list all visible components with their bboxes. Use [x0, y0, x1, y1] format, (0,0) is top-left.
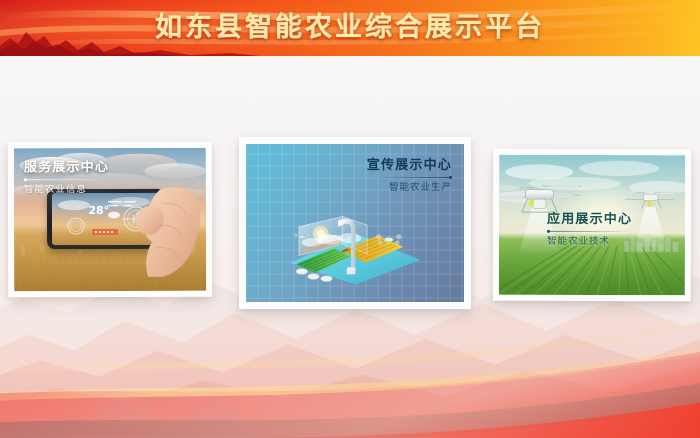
card-application-title: 应用展示中心: [547, 212, 632, 228]
platform-showcase-page: 如东县智能农业综合展示平台: [0, 0, 700, 438]
card-service-image: 28°: [14, 148, 206, 292]
ar-temperature-readout: 28°: [88, 204, 109, 217]
card-promotion-title: 宣传展示中心: [367, 158, 452, 174]
card-promotion-image: 宣传展示中心 智能农业生产: [246, 144, 464, 302]
card-application-image: 应用展示中心 智能农业技术: [499, 155, 685, 295]
card-service-title: 服务展示中心: [24, 160, 109, 176]
card-service-caption: 服务展示中心 智能农业信息: [24, 160, 109, 196]
card-application-caption: 应用展示中心 智能农业技术: [547, 212, 632, 248]
card-service-subtitle: 智能农业信息: [24, 183, 109, 196]
card-application-divider: [547, 231, 632, 232]
card-promotion-caption: 宣传展示中心 智能农业生产: [367, 158, 452, 194]
card-promotion-divider: [367, 177, 452, 178]
isometric-farm-scene: [261, 215, 448, 285]
card-application-display-center[interactable]: 应用展示中心 智能农业技术: [493, 149, 691, 302]
card-service-display-center[interactable]: 28°: [8, 142, 212, 298]
card-promotion-display-center[interactable]: 宣传展示中心 智能农业生产: [239, 137, 471, 309]
page-title: 如东县智能农业综合展示平台: [0, 7, 700, 49]
card-application-subtitle: 智能农业技术: [547, 235, 632, 248]
card-promotion-subtitle: 智能农业生产: [367, 181, 452, 194]
card-service-divider: [24, 179, 109, 180]
hand-holding-phone: [130, 182, 202, 278]
header-banner: 如东县智能农业综合展示平台: [0, 0, 700, 56]
